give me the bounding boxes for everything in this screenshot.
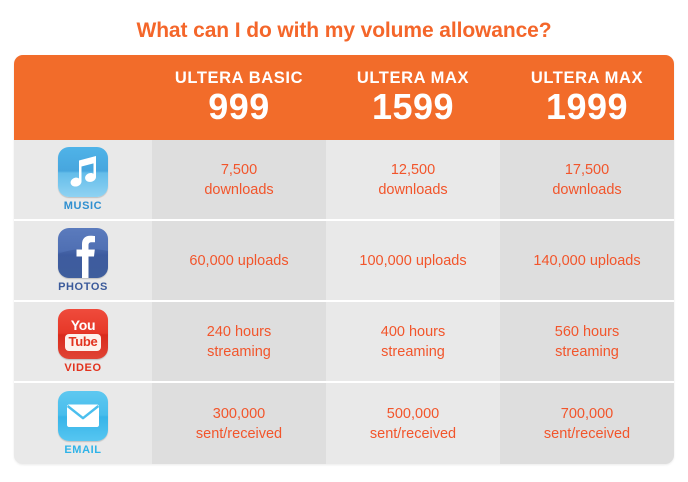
cell-email-plan0: 300,000 sent/received [152,383,326,464]
cell-unit: streaming [207,342,271,362]
cell-value: 7,500 [221,160,257,180]
video-icon-label: VIDEO [64,362,101,374]
allowance-table: ULTERA BASIC 999 ULTERA MAX 1599 ULTERA … [14,55,674,464]
table-row: You Tube VIDEO 240 hours streaming 400 h… [14,302,674,383]
cell-music-plan0: 7,500 downloads [152,140,326,219]
music-icon-label: MUSIC [64,200,102,212]
cell-value: 240 hours [207,322,272,342]
table-body: MUSIC 7,500 downloads 12,500 downloads 1… [14,140,674,464]
cell-video-plan2: 560 hours streaming [500,302,674,381]
cell-value: 60,000 uploads [189,251,288,271]
plan-price-2: 1999 [500,87,674,127]
cell-value: 500,000 [387,404,439,424]
row-icon-cell-music: MUSIC [14,140,152,219]
table-row: PHOTOS 60,000 uploads 100,000 uploads 14… [14,221,674,302]
cell-photos-plan2: 140,000 uploads [500,221,674,300]
cell-value: 140,000 uploads [533,251,640,271]
plan-header-2[interactable]: ULTERA MAX 1999 [500,55,674,140]
cell-photos-plan1: 100,000 uploads [326,221,500,300]
cell-email-plan1: 500,000 sent/received [326,383,500,464]
cell-value: 17,500 [565,160,609,180]
music-icon [58,147,108,197]
row-icon-cell-email: EMAIL [14,383,152,464]
row-icon-cell-video: You Tube VIDEO [14,302,152,381]
table-row: MUSIC 7,500 downloads 12,500 downloads 1… [14,140,674,221]
cell-video-plan1: 400 hours streaming [326,302,500,381]
cell-value: 560 hours [555,322,620,342]
cell-unit: sent/received [370,424,456,444]
cell-unit: downloads [378,180,447,200]
allowance-infographic: What can I do with my volume allowance? … [0,0,688,482]
plan-name-2: ULTERA MAX [500,68,674,88]
facebook-photos-icon [58,228,108,278]
table-header-row: ULTERA BASIC 999 ULTERA MAX 1599 ULTERA … [14,55,674,140]
cell-unit: downloads [204,180,273,200]
cell-unit: sent/received [544,424,630,444]
cell-music-plan2: 17,500 downloads [500,140,674,219]
email-icon [58,391,108,441]
photos-icon-label: PHOTOS [58,281,108,293]
cell-unit: streaming [555,342,619,362]
email-icon-label: EMAIL [64,444,101,456]
youtube-tube-text: Tube [65,334,102,351]
cell-unit: streaming [381,342,445,362]
cell-value: 300,000 [213,404,265,424]
cell-value: 12,500 [391,160,435,180]
plan-price-1: 1599 [326,87,500,127]
youtube-you-text: You [71,318,96,332]
plan-name-1: ULTERA MAX [326,68,500,88]
cell-photos-plan0: 60,000 uploads [152,221,326,300]
cell-value: 700,000 [561,404,613,424]
cell-music-plan1: 12,500 downloads [326,140,500,219]
plan-name-0: ULTERA BASIC [152,68,326,88]
row-icon-cell-photos: PHOTOS [14,221,152,300]
cell-unit: downloads [552,180,621,200]
youtube-video-icon: You Tube [58,309,108,359]
table-row: EMAIL 300,000 sent/received 500,000 sent… [14,383,674,464]
header-icon-spacer [14,55,152,140]
cell-value: 400 hours [381,322,446,342]
cell-unit: sent/received [196,424,282,444]
plan-price-0: 999 [152,87,326,127]
cell-value: 100,000 uploads [359,251,466,271]
cell-video-plan0: 240 hours streaming [152,302,326,381]
plan-header-0[interactable]: ULTERA BASIC 999 [152,55,326,140]
plan-header-1[interactable]: ULTERA MAX 1599 [326,55,500,140]
page-title: What can I do with my volume allowance? [0,18,688,44]
cell-email-plan2: 700,000 sent/received [500,383,674,464]
